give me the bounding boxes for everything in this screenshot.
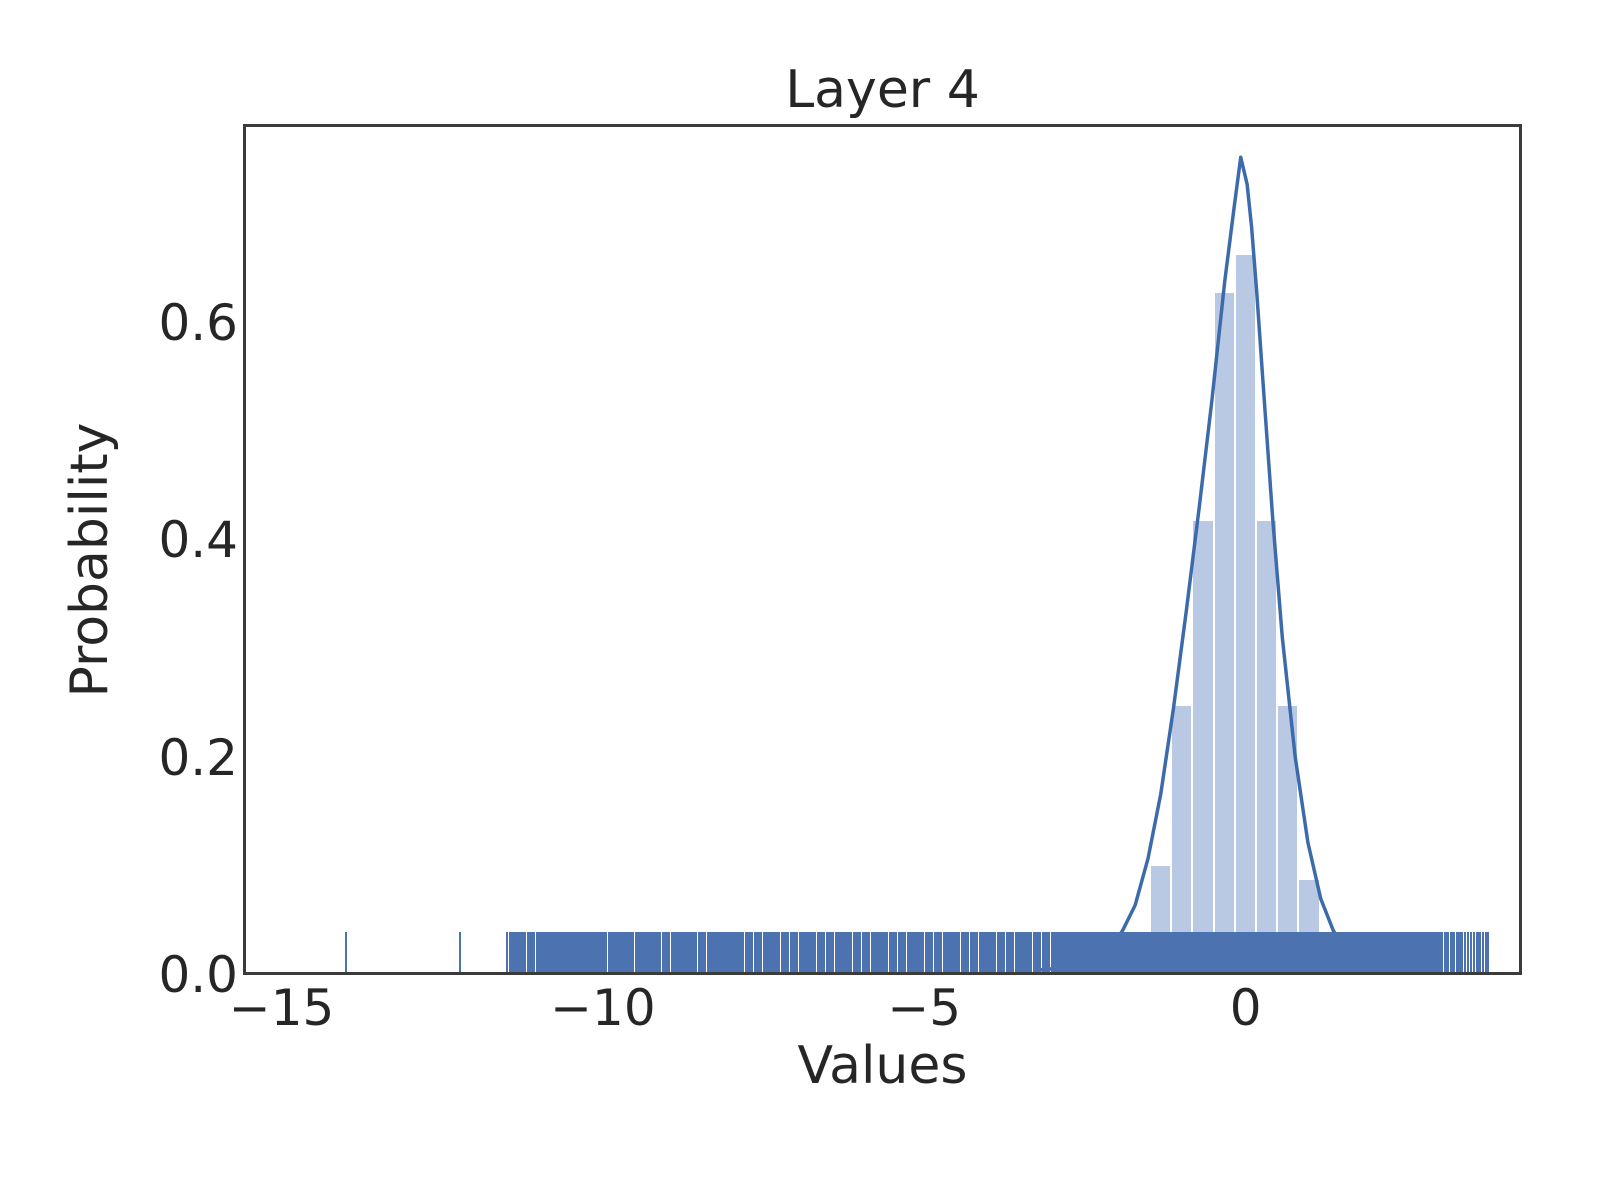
y-tick-label: 0.4 <box>158 515 238 565</box>
plot-inner <box>246 127 1519 972</box>
rug-tick <box>1447 932 1449 972</box>
chart-title: Layer 4 <box>243 60 1522 120</box>
y-axis-label: Probability <box>60 160 120 960</box>
plot-area <box>243 124 1522 975</box>
x-tick-label: −10 <box>550 983 656 1033</box>
rug-tick <box>1476 932 1478 972</box>
y-tick-label: 0.2 <box>158 733 238 783</box>
rug-tick <box>1450 932 1452 972</box>
rug-tick <box>345 932 347 972</box>
y-tick-label: 0.6 <box>158 298 238 348</box>
x-axis-label: Values <box>243 1036 1522 1096</box>
rug-tick <box>1464 932 1466 972</box>
rug-tick <box>459 932 461 972</box>
rug-tick <box>1453 932 1455 972</box>
rug-tick <box>1461 932 1463 972</box>
rug-tick <box>1479 932 1481 972</box>
rug-tick <box>1441 932 1443 972</box>
rug-tick <box>1487 932 1489 972</box>
rug-tick <box>1444 932 1446 972</box>
x-tick-label: 0 <box>1230 983 1262 1033</box>
rug-tick <box>1473 932 1475 972</box>
y-tick-label: 0.0 <box>158 950 238 1000</box>
figure: Layer 4 0.00.20.40.6 −15−10−50 Values Pr… <box>0 0 1600 1200</box>
x-tick-label: −15 <box>229 983 335 1033</box>
x-tick-label: −5 <box>887 983 961 1033</box>
rug-plot <box>246 127 1519 972</box>
rug-tick <box>1482 932 1484 972</box>
rug-tick <box>1485 932 1487 972</box>
rug-tick <box>1470 932 1472 972</box>
rug-tick <box>589 932 592 972</box>
rug-tick <box>1456 932 1458 972</box>
rug-tick <box>1438 932 1440 972</box>
rug-tick <box>1458 932 1460 972</box>
rug-tick <box>1467 932 1469 972</box>
